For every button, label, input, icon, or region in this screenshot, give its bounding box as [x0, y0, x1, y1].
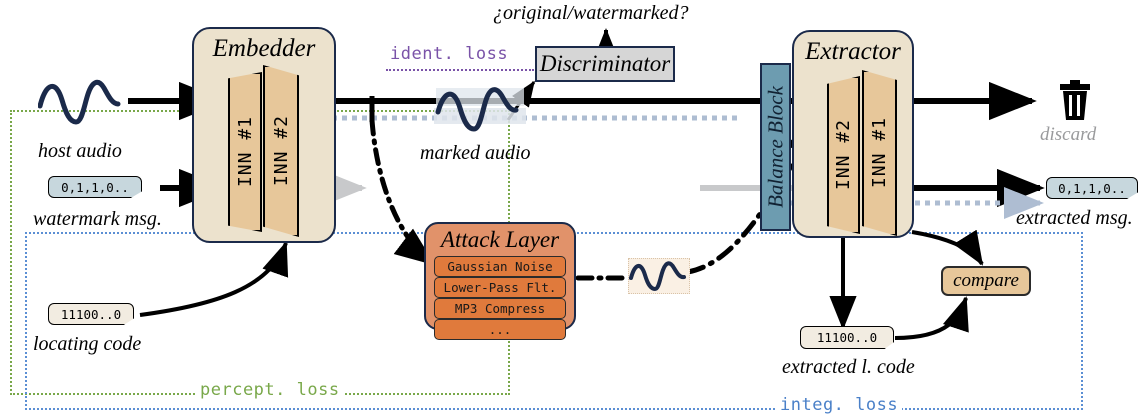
discard-trash — [1057, 80, 1093, 127]
watermark-msg-label: watermark msg. — [33, 208, 162, 231]
embedder-inn-1[interactable]: INN #1 — [228, 72, 262, 232]
extracted-msg-chip[interactable]: 0,1,1,0.. — [1046, 177, 1138, 199]
watermark-msg-value: 0,1,1,0.. — [61, 180, 129, 195]
extracted-msg-value: 0,1,1,0.. — [1058, 181, 1126, 196]
attack-item-gaussian-noise-label: Gaussian Noise — [447, 259, 552, 274]
percept-loss-label: percept. loss — [196, 380, 344, 400]
discriminator-question: ¿original/watermarked? — [493, 2, 689, 25]
percept-loss: percept. loss — [196, 380, 344, 400]
diagram-canvas: Embedder INN #1 INN #2 Extractor INN #2 … — [0, 0, 1145, 417]
embedder-title: Embedder — [194, 35, 334, 63]
trash-icon — [1057, 80, 1093, 122]
locating-code-label: locating code — [33, 333, 141, 356]
marked-audio-label: marked audio — [420, 142, 531, 165]
extracted-code-value: 11100..0 — [817, 330, 877, 345]
embedder-inn-2-label: INN #2 — [271, 115, 292, 186]
discriminator-label: Discriminator — [540, 51, 670, 77]
extractor-inn-2[interactable]: INN #2 — [827, 76, 860, 234]
host-audio-label: host audio — [38, 140, 122, 163]
embedder-inn-1-label: INN #1 — [235, 116, 256, 187]
integ-loss: integ. loss — [776, 395, 902, 415]
extracted-code-chip[interactable]: 11100..0 — [800, 326, 894, 349]
attack-item-more[interactable]: ... — [434, 319, 566, 340]
integ-loss-label: integ. loss — [776, 395, 902, 415]
attack-layer-title: Attack Layer — [426, 227, 574, 253]
attack-item-mp3-compress-label: MP3 Compress — [455, 301, 545, 316]
waveform-icon — [434, 84, 528, 132]
attack-item-mp3-compress[interactable]: MP3 Compress — [434, 298, 566, 319]
balance-block-label: Balance Block — [763, 86, 788, 208]
extractor-inn-1-label: INN #1 — [869, 117, 890, 188]
extractor-inn-2-label: INN #2 — [833, 119, 854, 190]
attack-item-more-label: ... — [489, 322, 512, 337]
attacked-audio-waveform — [628, 258, 690, 294]
discriminator-box[interactable]: Discriminator — [535, 46, 675, 82]
attack-item-gaussian-noise[interactable]: Gaussian Noise — [434, 256, 566, 277]
extractor-title: Extractor — [794, 38, 912, 66]
extracted-code-label: extracted l. code — [782, 356, 915, 379]
attack-item-lower-pass-filter[interactable]: Lower-Pass Flt. — [434, 277, 566, 298]
embedder-inn-2[interactable]: INN #2 — [263, 65, 299, 237]
marked-audio-waveform — [434, 84, 528, 132]
compare-label: compare — [953, 270, 1019, 292]
waveform-icon — [628, 258, 690, 294]
discard-label: discard — [1040, 124, 1096, 146]
ident-loss-label: ident. loss — [386, 44, 512, 64]
balance-block[interactable]: Balance Block — [760, 63, 791, 231]
ident-loss: ident. loss — [386, 44, 512, 64]
waveform-icon — [38, 74, 130, 126]
attack-item-lower-pass-filter-label: Lower-Pass Flt. — [444, 280, 557, 295]
attack-layer-box[interactable]: Attack Layer Gaussian Noise Lower-Pass F… — [424, 222, 576, 330]
locating-code-value: 11100..0 — [61, 307, 121, 322]
extracted-msg-label: extracted msg. — [1016, 207, 1133, 230]
locating-code-chip[interactable]: 11100..0 — [48, 303, 134, 325]
ident-loss-rule — [386, 68, 534, 71]
host-audio-waveform — [38, 74, 130, 126]
extractor-inn-1[interactable]: INN #1 — [862, 70, 897, 236]
watermark-msg-chip[interactable]: 0,1,1,0.. — [48, 176, 142, 198]
compare-box[interactable]: compare — [941, 266, 1031, 296]
